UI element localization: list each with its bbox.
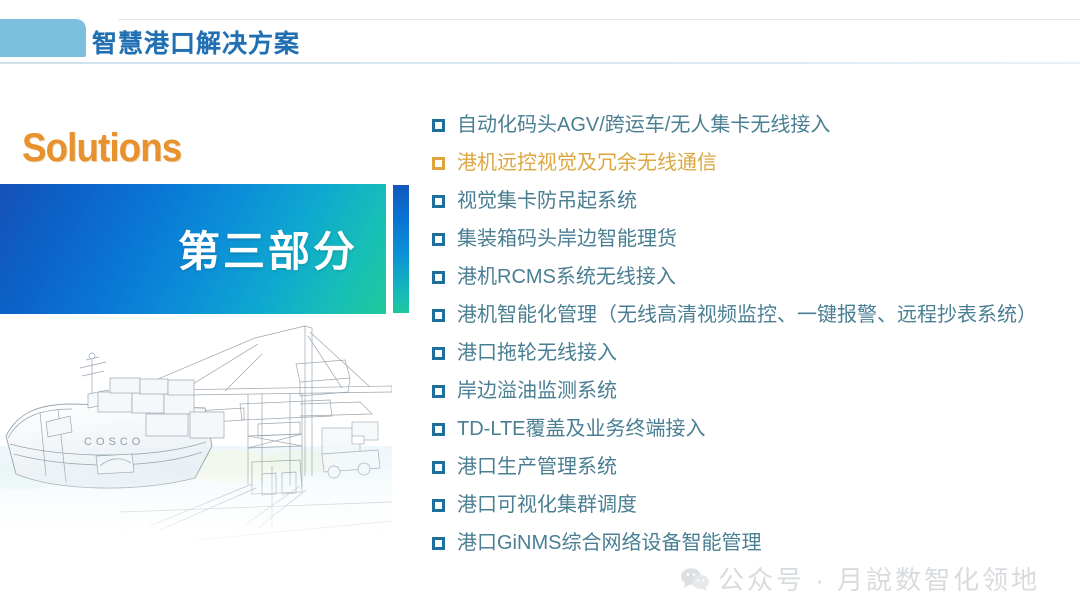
checkbox-square-icon — [432, 537, 445, 550]
list-item[interactable]: 集装箱码头岸边智能理货 — [432, 226, 1072, 264]
port-ship-sketch-illustration: COSCO — [0, 316, 392, 548]
checkbox-square-icon — [432, 385, 445, 398]
slide-canvas: 智慧港口解决方案 Solutions 第三部分 — [0, 0, 1080, 608]
checkbox-square-icon — [432, 499, 445, 512]
slide-header: 智慧港口解决方案 — [0, 0, 1080, 72]
list-item-label: 视觉集卡防吊起系统 — [457, 188, 637, 214]
checkbox-square-icon — [432, 157, 445, 170]
checkbox-square-icon — [432, 309, 445, 322]
header-top-hairline — [118, 19, 1080, 20]
checkbox-square-icon — [432, 461, 445, 474]
header-accent-tab — [0, 19, 86, 57]
section-eyebrow-solutions: Solutions — [22, 126, 181, 171]
list-item[interactable]: 港机智能化管理（无线高清视频监控、一键报警、远程抄表系统） — [432, 302, 1072, 340]
list-item[interactable]: 视觉集卡防吊起系统 — [432, 188, 1072, 226]
watermark: 公众号 · 月說数智化领地 — [680, 560, 1040, 597]
list-item[interactable]: TD-LTE覆盖及业务终端接入 — [432, 416, 1072, 454]
wechat-icon — [680, 567, 710, 591]
list-item-label: 港机RCMS系统无线接入 — [457, 264, 676, 290]
list-item[interactable]: 港机RCMS系统无线接入 — [432, 264, 1072, 302]
list-item-label: 港口GiNMS综合网络设备智能管理 — [457, 530, 761, 556]
svg-text:COSCO: COSCO — [84, 436, 144, 448]
checkbox-square-icon — [432, 195, 445, 208]
list-item[interactable]: 港机远控视觉及冗余无线通信 — [432, 150, 1072, 188]
header-divider — [0, 62, 1080, 64]
checkbox-square-icon — [432, 119, 445, 132]
list-item-label: 港口拖轮无线接入 — [457, 340, 617, 366]
list-item[interactable]: 自动化码头AGV/跨运车/无人集卡无线接入 — [432, 112, 1072, 150]
list-item-label: 集装箱码头岸边智能理货 — [457, 226, 677, 252]
list-item[interactable]: 港口可视化集群调度 — [432, 492, 1072, 530]
list-item-label: 港机远控视觉及冗余无线通信 — [457, 150, 717, 176]
section-number-banner: 第三部分 — [0, 184, 386, 314]
checkbox-square-icon — [432, 233, 445, 246]
list-item[interactable]: 岸边溢油监测系统 — [432, 378, 1072, 416]
list-item[interactable]: 港口生产管理系统 — [432, 454, 1072, 492]
list-item-label: 港口可视化集群调度 — [457, 492, 637, 518]
checkbox-square-icon — [432, 423, 445, 436]
list-item[interactable]: 港口拖轮无线接入 — [432, 340, 1072, 378]
list-item-label: 港机智能化管理（无线高清视频监控、一键报警、远程抄表系统） — [457, 302, 1037, 328]
checkbox-square-icon — [432, 271, 445, 284]
page-title: 智慧港口解决方案 — [92, 24, 300, 60]
list-item-label: TD-LTE覆盖及业务终端接入 — [457, 416, 706, 442]
list-item-label: 自动化码头AGV/跨运车/无人集卡无线接入 — [457, 112, 830, 138]
watermark-text: 公众号 · 月說数智化领地 — [718, 560, 1040, 597]
section-number-label: 第三部分 — [178, 218, 358, 279]
banner-accent-strip — [393, 185, 409, 313]
checkbox-square-icon — [432, 347, 445, 360]
list-item-label: 岸边溢油监测系统 — [457, 378, 617, 404]
list-item-label: 港口生产管理系统 — [457, 454, 617, 480]
solutions-list: 自动化码头AGV/跨运车/无人集卡无线接入 港机远控视觉及冗余无线通信 视觉集卡… — [432, 112, 1072, 568]
